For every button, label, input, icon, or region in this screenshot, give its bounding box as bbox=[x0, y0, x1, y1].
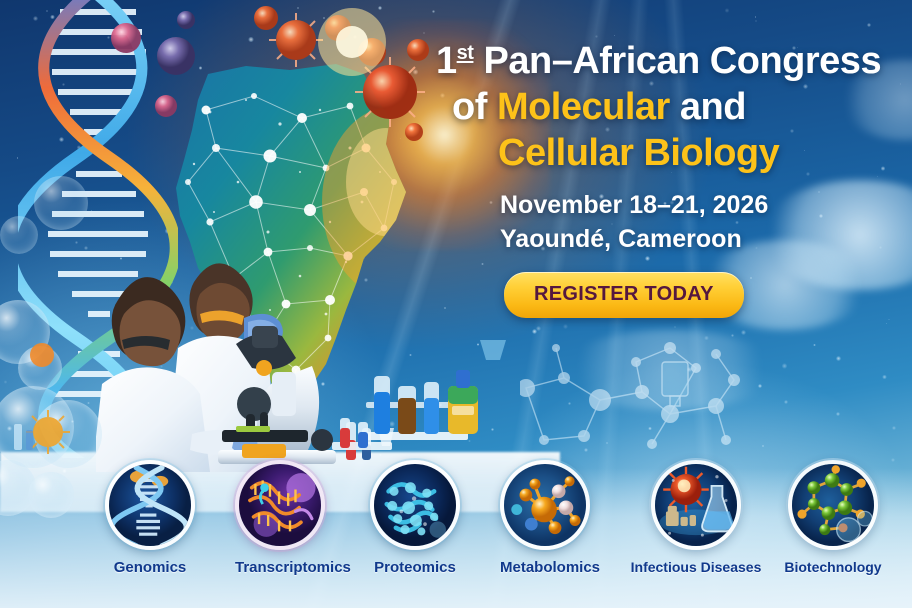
rna-strands-icon[interactable] bbox=[235, 460, 325, 550]
event-dates: November 18–21, 2026 bbox=[500, 188, 892, 222]
topic-label: Proteomics bbox=[370, 559, 460, 576]
dna-double-helix-icon[interactable] bbox=[105, 460, 195, 550]
topic-label: Metabolomics bbox=[500, 559, 590, 576]
conference-banner: 1st Pan–African Congress of Molecular an… bbox=[0, 0, 912, 608]
event-location: Yaoundé, Cameroon bbox=[500, 222, 892, 256]
bubble-decor bbox=[34, 176, 88, 230]
molecular-wireframe-graphic bbox=[520, 340, 912, 470]
topic-item-transcriptomics[interactable]: Transcriptomics bbox=[235, 460, 325, 576]
bubble-decor bbox=[0, 216, 38, 254]
title-line2-prefix: of bbox=[452, 86, 497, 128]
protein-structure-icon[interactable] bbox=[370, 460, 460, 550]
event-details: November 18–21, 2026 Yaoundé, Cameroon bbox=[500, 188, 892, 256]
topic-label: Genomics bbox=[105, 559, 195, 576]
title-line3-accent: Cellular Biology bbox=[498, 132, 779, 174]
title-ordinal: 1 bbox=[436, 40, 457, 82]
topic-label: Biotechnology bbox=[768, 559, 898, 575]
headline-block: 1st Pan–African Congress of Molecular an… bbox=[432, 30, 892, 318]
metabolite-molecule-icon[interactable] bbox=[500, 460, 590, 550]
title-line2-suffix: and bbox=[670, 86, 746, 128]
molecular-bonds-icon[interactable] bbox=[788, 460, 878, 550]
register-today-button[interactable]: REGISTER TODAY bbox=[504, 272, 744, 318]
topic-label: Transcriptomics bbox=[235, 559, 325, 576]
topic-item-biotechnology[interactable]: Biotechnology bbox=[768, 460, 898, 575]
topic-item-metabolomics[interactable]: Metabolomics bbox=[500, 460, 590, 576]
cta-container: REGISTER TODAY bbox=[504, 272, 892, 318]
topic-label: Infectious Diseases bbox=[626, 559, 766, 575]
topic-strip: Genomics bbox=[0, 455, 912, 605]
topic-item-genomics[interactable]: Genomics bbox=[105, 460, 195, 576]
title-ordinal-suffix: st bbox=[457, 42, 474, 64]
virus-and-flask-icon[interactable] bbox=[651, 460, 741, 550]
bubble-decor bbox=[18, 346, 62, 390]
lab-glassware-graphic bbox=[330, 340, 520, 465]
topic-item-proteomics[interactable]: Proteomics bbox=[370, 460, 460, 576]
title-line2-accent: Molecular bbox=[497, 86, 670, 128]
topic-item-infectious-diseases[interactable]: Infectious Diseases bbox=[626, 460, 766, 575]
title-line1-rest: Pan–African Congress bbox=[484, 40, 882, 82]
page-title: 1st Pan–African Congress of Molecular an… bbox=[432, 30, 892, 176]
